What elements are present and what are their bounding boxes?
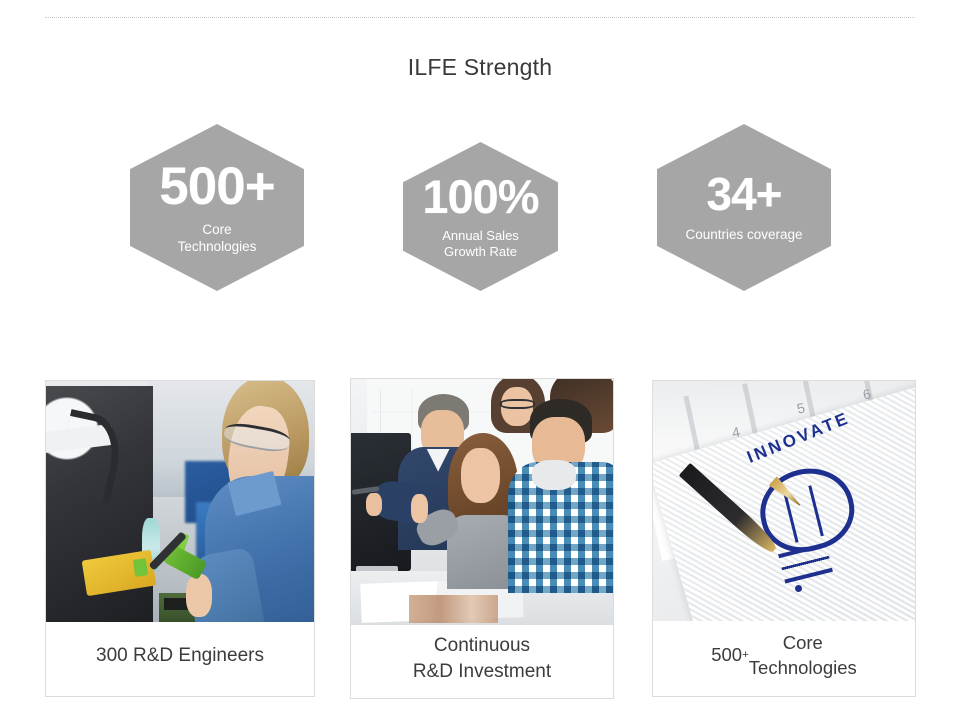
photo-hand: [411, 494, 428, 523]
stat-label: Core Technologies: [178, 222, 257, 256]
photo-person-man-plaid: [508, 399, 613, 586]
card-caption: Continuous R&D Investment: [351, 625, 613, 698]
photo-hand: [366, 493, 382, 516]
stat-hexagon-growth-rate: 100% Annual Sales Growth Rate: [403, 142, 558, 291]
photo-collar: [532, 460, 576, 490]
stat-value: 500+: [159, 160, 274, 213]
stat-value: 100%: [422, 173, 538, 220]
photo-machine-cable: [54, 409, 127, 504]
stat-value: 34+: [706, 171, 781, 217]
team-collaboration-photo: [351, 379, 613, 625]
card-core-technologies[interactable]: 4 5 6 INNOVATE 500+ Core Technologies: [652, 380, 916, 697]
stats-row: 500+ Core Technologies 100% Annual Sales…: [0, 118, 960, 303]
photo-print-strip: [409, 595, 498, 622]
card-caption: 500+ Core Technologies: [653, 621, 915, 696]
card-caption-rest: Core Technologies: [749, 631, 857, 680]
page-title: ILFE Strength: [0, 54, 960, 81]
engineer-at-workbench-photo: [46, 381, 314, 622]
page-root: ILFE Strength 500+ Core Technologies 100…: [0, 0, 960, 722]
card-caption-prefix: 500: [711, 643, 742, 667]
cards-row: 300 R&D Engineers: [0, 380, 960, 702]
ink-dot: [795, 585, 802, 592]
stat-hexagon-countries-coverage: 34+ Countries coverage: [657, 124, 831, 291]
innovate-lightbulb-napkin-photo: 4 5 6 INNOVATE: [653, 381, 915, 621]
photo-face: [461, 448, 500, 503]
photo-ink-drawing: INNOVATE: [732, 424, 915, 611]
stat-label: Annual Sales Growth Rate: [442, 228, 519, 261]
photo-technician-hand: [186, 574, 212, 617]
card-caption-superscript: +: [742, 648, 749, 663]
photo-technician: [212, 381, 314, 622]
card-rd-engineers[interactable]: 300 R&D Engineers: [45, 380, 315, 697]
stat-label: Countries coverage: [685, 227, 802, 244]
top-divider: [45, 17, 915, 18]
card-rd-investment[interactable]: Continuous R&D Investment: [350, 378, 614, 699]
stat-hexagon-core-technologies: 500+ Core Technologies: [130, 124, 304, 291]
card-caption: 300 R&D Engineers: [46, 622, 314, 696]
